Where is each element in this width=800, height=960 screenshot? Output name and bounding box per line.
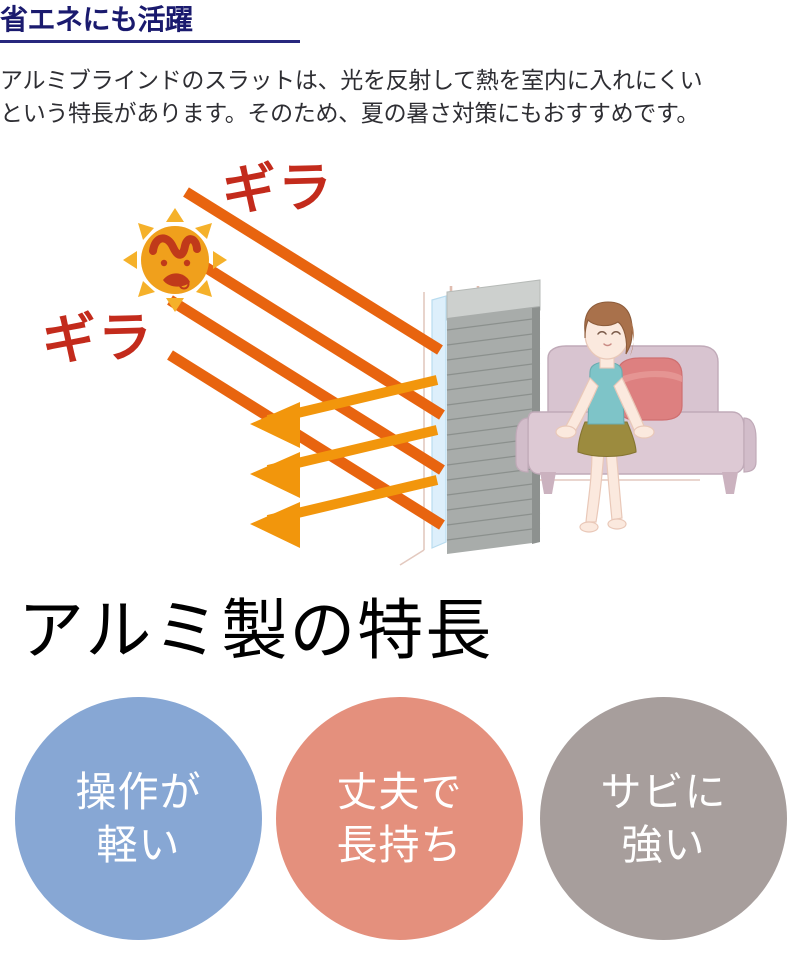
seated-woman — [556, 302, 654, 532]
reflected-ray-arrowheads — [250, 402, 300, 548]
lead-paragraph-line-1: アルミブラインドのスラットは、光を反射して熱を室内に入れにくい — [0, 64, 800, 97]
feature-circle-line-1: サビに — [601, 766, 727, 818]
woman-foot-left — [580, 522, 598, 532]
feature-circle-line-2: 強い — [622, 819, 706, 871]
lead-paragraph-line-2: という特長があります。そのため、夏の暑さ対策にもおすすめです。 — [0, 97, 800, 130]
lead-paragraph: アルミブラインドのスラットは、光を反射して熱を室内に入れにくい という特長があり… — [0, 64, 800, 129]
sofa-leg-left — [540, 472, 556, 494]
features-title: アルミ製の特長 — [18, 594, 493, 667]
feature-circle-line-1: 操作が — [76, 766, 202, 818]
gira-label-top: ギラ — [221, 161, 334, 218]
feature-circle-durable: 丈夫で 長持ち — [276, 697, 523, 940]
woman-skirt — [578, 422, 636, 457]
sun-eye-left — [161, 260, 167, 266]
feature-circle-rust-resistant: サビに 強い — [540, 697, 787, 940]
sofa-arm-left — [516, 418, 528, 472]
sofa-arm-right — [744, 418, 756, 472]
feature-circle-line-2: 長持ち — [337, 819, 463, 871]
woman-foot-right — [608, 519, 626, 529]
gira-label-left: ギラ — [41, 311, 154, 368]
feature-circle-line-2: 軽い — [97, 819, 181, 871]
feature-circle-row: 操作が 軽い 丈夫で 長持ち サビに 強い — [0, 697, 800, 942]
window-glass — [432, 296, 446, 548]
sun-eye-right — [184, 260, 190, 266]
woman-hand-right — [634, 426, 654, 438]
section-heading: 省エネにも活躍 — [0, 2, 300, 43]
sofa-leg-right — [722, 472, 738, 494]
feature-circle-line-1: 丈夫で — [337, 766, 463, 818]
woman-hand-left — [556, 426, 576, 438]
sun-icon — [123, 208, 227, 312]
energy-saving-illustration: ギラ ギラ — [0, 150, 800, 570]
feature-circle-light-operation: 操作が 軽い — [15, 697, 262, 940]
